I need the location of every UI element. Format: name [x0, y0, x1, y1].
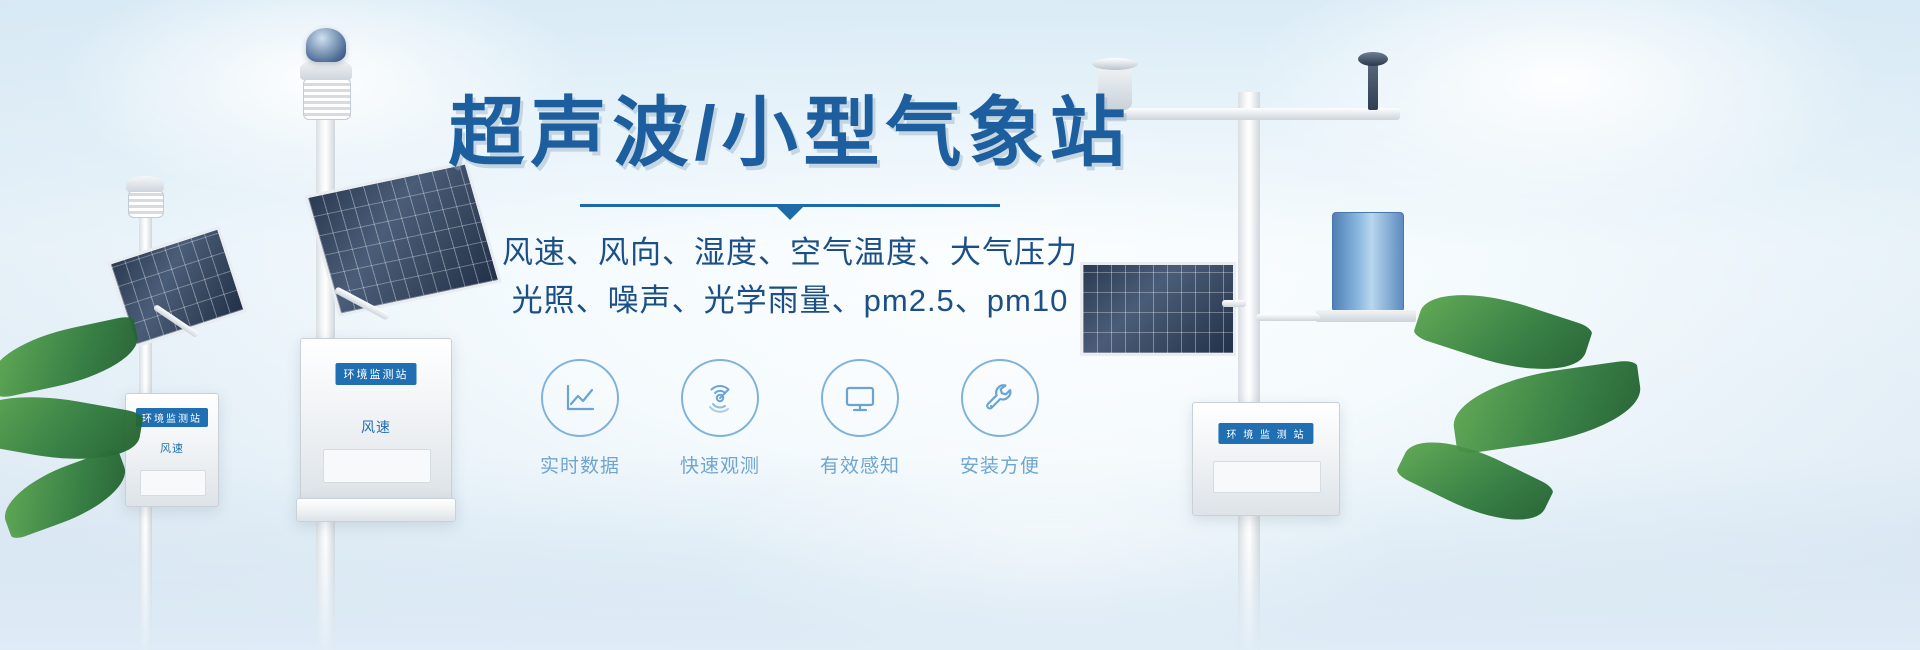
page-title: 超声波/小型气象站 [440, 96, 1140, 172]
feature-item-effective-sensing[interactable]: 有效感知 [814, 359, 906, 478]
enclosure-vent [323, 449, 431, 483]
title-sub: 小型气象站 [722, 91, 1132, 176]
feature-label: 实时数据 [540, 451, 620, 478]
radiation-shield [303, 78, 351, 120]
monitor-screen-icon [821, 359, 899, 437]
wind-vane-cup [1358, 52, 1388, 66]
panel-bracket [1222, 300, 1246, 307]
title-separator: / [694, 91, 721, 176]
feature-label: 有效感知 [820, 451, 900, 478]
feature-label: 安装方便 [960, 451, 1040, 478]
device-brand: 风速 [160, 440, 184, 456]
device-badge: 环境监测站 [336, 363, 417, 385]
feature-item-realtime-data[interactable]: 实时数据 [534, 359, 626, 478]
subtitle-block: 风速、风向、湿度、空气温度、大气压力 光照、噪声、光学雨量、pm2.5、pm10 [440, 229, 1140, 325]
subtitle-line-2: 光照、噪声、光学雨量、pm2.5、pm10 [440, 277, 1140, 325]
device-badge: 环 境 监 测 站 [1218, 423, 1313, 444]
rain-gauge-bracket [1256, 314, 1320, 321]
leaf-decoration [1448, 359, 1646, 455]
wrench-icon [961, 359, 1039, 437]
rain-gauge-shelf [1316, 310, 1416, 322]
leaf-decoration [0, 384, 144, 473]
enclosure-vent [1213, 461, 1321, 493]
leaf-decoration [0, 447, 135, 540]
radiation-shield [128, 190, 164, 218]
ultrasonic-sensor-head [306, 28, 346, 62]
monitor-enclosure: 环境监测站 风速 [300, 338, 452, 500]
monitor-enclosure: 环境监测站 风速 [125, 393, 219, 507]
monitor-enclosure: 环 境 监 测 站 [1192, 402, 1340, 516]
banner-content: 超声波/小型气象站 风速、风向、湿度、空气温度、大气压力 光照、噪声、光学雨量、… [440, 96, 1140, 566]
optical-rain-gauge [1332, 212, 1404, 312]
enclosure-vent [140, 470, 206, 496]
feature-list: 实时数据 快速观测 [440, 359, 1140, 478]
mast-pole [1238, 92, 1260, 650]
feature-item-fast-observation[interactable]: 快速观测 [674, 359, 766, 478]
title-main: 超声波 [448, 91, 694, 176]
crossbar-arm [1100, 108, 1400, 120]
feature-item-easy-installation[interactable]: 安装方便 [954, 359, 1046, 478]
anemometer-disc [1092, 58, 1138, 70]
product-banner: 环境监测站 风速 环境监测站 风速 环 境 监 测 站 [0, 0, 1920, 650]
device-brand: 风速 [361, 417, 391, 437]
feature-label: 快速观测 [680, 451, 760, 478]
subtitle-line-1: 风速、风向、湿度、空气温度、大气压力 [440, 229, 1140, 277]
device-badge: 环境监测站 [136, 408, 208, 427]
radar-signal-icon [681, 359, 759, 437]
title-divider [580, 204, 1000, 207]
sensor-cap [126, 176, 164, 192]
enclosure-base [296, 498, 456, 522]
leaf-decoration [0, 315, 144, 399]
line-chart-icon [541, 359, 619, 437]
